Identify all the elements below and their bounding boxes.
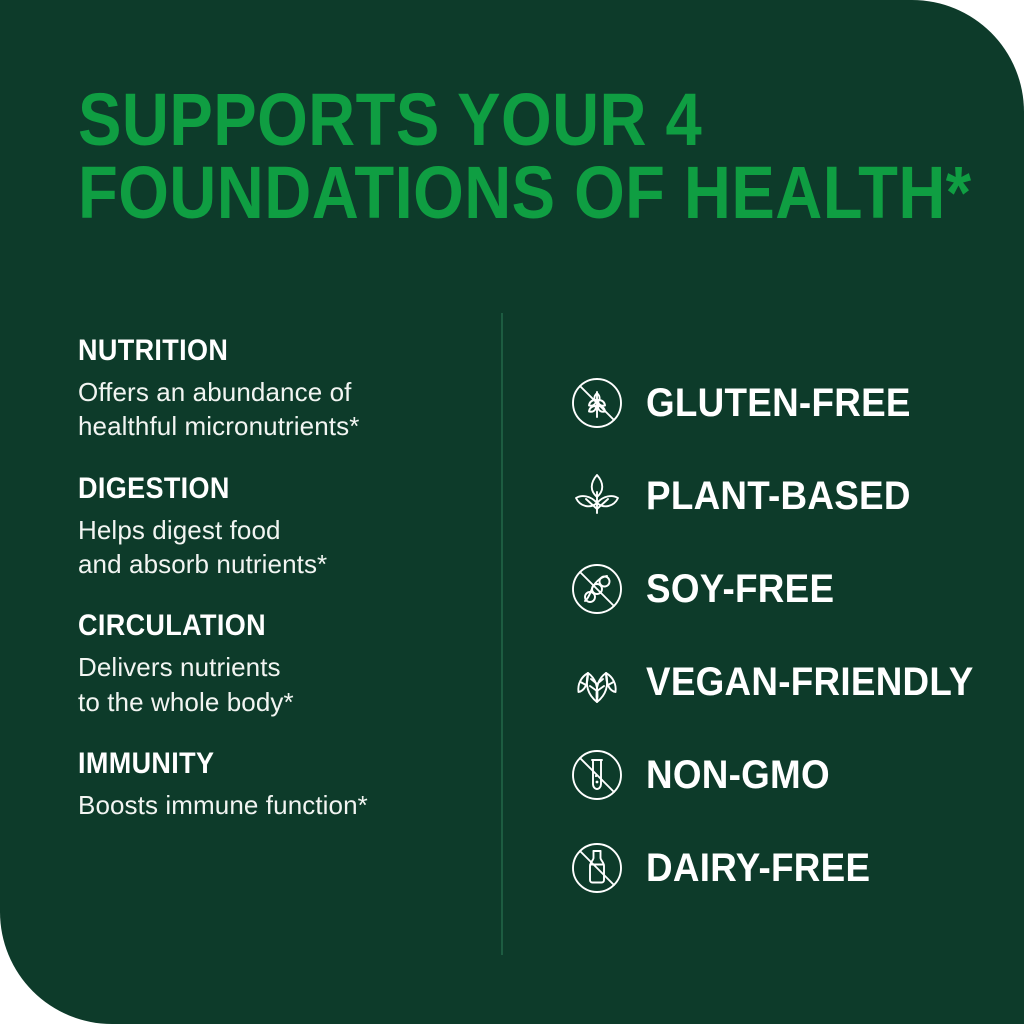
milk-bottle-no-icon [566,837,628,899]
badge-label: DAIRY-FREE [646,848,870,888]
foundation-title: DIGESTION [78,474,438,504]
badge-item-soy-free: SOY-FREE [566,558,986,620]
foundation-title: IMMUNITY [78,749,438,779]
test-tube-no-icon [566,744,628,806]
badge-item-vegan-friendly: VEGAN-FRIENDLY [566,651,986,713]
foundation-description: Offers an abundance of healthful micronu… [78,375,478,444]
foundation-title: NUTRITION [78,336,438,366]
badge-label: NON-GMO [646,755,830,795]
page-title-line-1: SUPPORTS YOUR 4 [78,84,852,157]
page-title-line-2: FOUNDATIONS OF HEALTH* [78,157,852,230]
badge-label: PLANT-BASED [646,476,911,516]
badge-list: GLUTEN-FREE PLANT-BASED [566,372,986,899]
foundation-description: Helps digest food and absorb nutrients* [78,513,478,582]
soybean-no-icon [566,558,628,620]
badge-item-non-gmo: NON-GMO [566,744,986,806]
foundations-list: NUTRITION Offers an abundance of healthf… [78,336,478,822]
foundation-title: CIRCULATION [78,611,438,641]
promo-panel: SUPPORTS YOUR 4 FOUNDATIONS OF HEALTH* N… [0,0,1024,1024]
badge-label: SOY-FREE [646,569,834,609]
foundation-item-immunity: IMMUNITY Boosts immune function* [78,749,478,822]
badge-item-gluten-free: GLUTEN-FREE [566,372,986,434]
plant-leaf-icon [566,465,628,527]
foundation-description: Delivers nutrients to the whole body* [78,650,478,719]
wheat-no-icon [566,372,628,434]
badge-item-plant-based: PLANT-BASED [566,465,986,527]
badge-label: VEGAN-FRIENDLY [646,662,974,702]
page-title: SUPPORTS YOUR 4 FOUNDATIONS OF HEALTH* [78,84,852,229]
column-divider [501,313,503,955]
badge-label: GLUTEN-FREE [646,383,911,423]
foundation-item-digestion: DIGESTION Helps digest food and absorb n… [78,474,478,582]
foundation-description: Boosts immune function* [78,788,478,822]
foundation-item-circulation: CIRCULATION Delivers nutrients to the wh… [78,611,478,719]
foundation-item-nutrition: NUTRITION Offers an abundance of healthf… [78,336,478,444]
leaf-cluster-icon [566,651,628,713]
badge-item-dairy-free: DAIRY-FREE [566,837,986,899]
